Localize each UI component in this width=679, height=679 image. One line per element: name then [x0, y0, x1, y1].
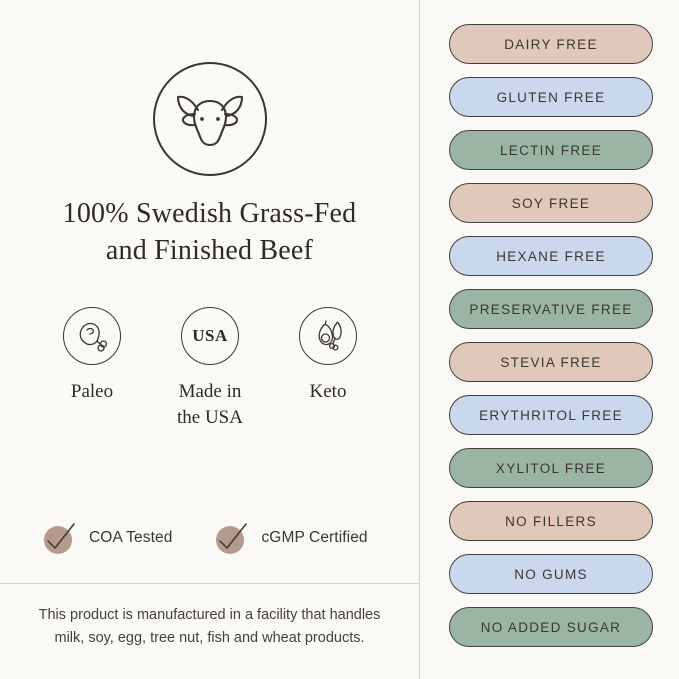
quality-checks-row: COA Tested cGMP Certified — [44, 522, 394, 554]
certification-keto: Keto — [276, 307, 380, 405]
usa-icon-text: USA — [192, 326, 228, 346]
badge-no-added-sugar: NO ADDED SUGAR — [449, 607, 653, 647]
vertical-divider — [419, 0, 420, 679]
product-attributes-infographic: 100% Swedish Grass-Fed and Finished Beef… — [0, 0, 679, 679]
checkmark-icon — [44, 522, 76, 554]
badge-no-gums: NO GUMS — [449, 554, 653, 594]
badge-xylitol-free: XYLITOL FREE — [449, 448, 653, 488]
disclaimer-line-2: milk, soy, egg, tree nut, fish and wheat… — [18, 627, 401, 650]
headline-line-2: and Finished Beef — [20, 233, 399, 270]
left-panel: 100% Swedish Grass-Fed and Finished Beef… — [0, 0, 419, 679]
cow-head-icon — [153, 62, 267, 176]
badge-preservative-free: PRESERVATIVE FREE — [449, 289, 653, 329]
logo-area — [0, 62, 419, 176]
badge-no-fillers: NO FILLERS — [449, 501, 653, 541]
badge-erythritol-free: ERYTHRITOL FREE — [449, 395, 653, 435]
certification-label: Paleo — [40, 379, 144, 405]
badge-soy-free: SOY FREE — [449, 183, 653, 223]
badge-hexane-free: HEXANE FREE — [449, 236, 653, 276]
check-coa-tested: COA Tested — [44, 522, 172, 554]
allergen-disclaimer: This product is manufactured in a facili… — [18, 604, 401, 651]
checkmark-icon — [216, 522, 248, 554]
check-label: cGMP Certified — [261, 529, 367, 547]
attribute-badge-column: DAIRY FREEGLUTEN FREELECTIN FREESOY FREE… — [449, 24, 653, 647]
headline-line-1: 100% Swedish Grass-Fed — [20, 196, 399, 233]
certification-icons-row: Paleo USA Made inthe USA — [40, 307, 380, 430]
certification-made-in-usa: USA Made inthe USA — [158, 307, 262, 430]
avocado-drumstick-icon — [299, 307, 357, 365]
check-cgmp-certified: cGMP Certified — [216, 522, 367, 554]
badge-lectin-free: LECTIN FREE — [449, 130, 653, 170]
badge-stevia-free: STEVIA FREE — [449, 342, 653, 382]
meat-drumstick-icon — [63, 307, 121, 365]
certification-label: Keto — [276, 379, 380, 405]
certification-label: Made inthe USA — [158, 379, 262, 430]
check-label: COA Tested — [89, 529, 172, 547]
product-headline: 100% Swedish Grass-Fed and Finished Beef — [20, 196, 399, 270]
usa-text-icon: USA — [181, 307, 239, 365]
disclaimer-line-1: This product is manufactured in a facili… — [18, 604, 401, 627]
badge-gluten-free: GLUTEN FREE — [449, 77, 653, 117]
badge-dairy-free: DAIRY FREE — [449, 24, 653, 64]
certification-paleo: Paleo — [40, 307, 144, 405]
